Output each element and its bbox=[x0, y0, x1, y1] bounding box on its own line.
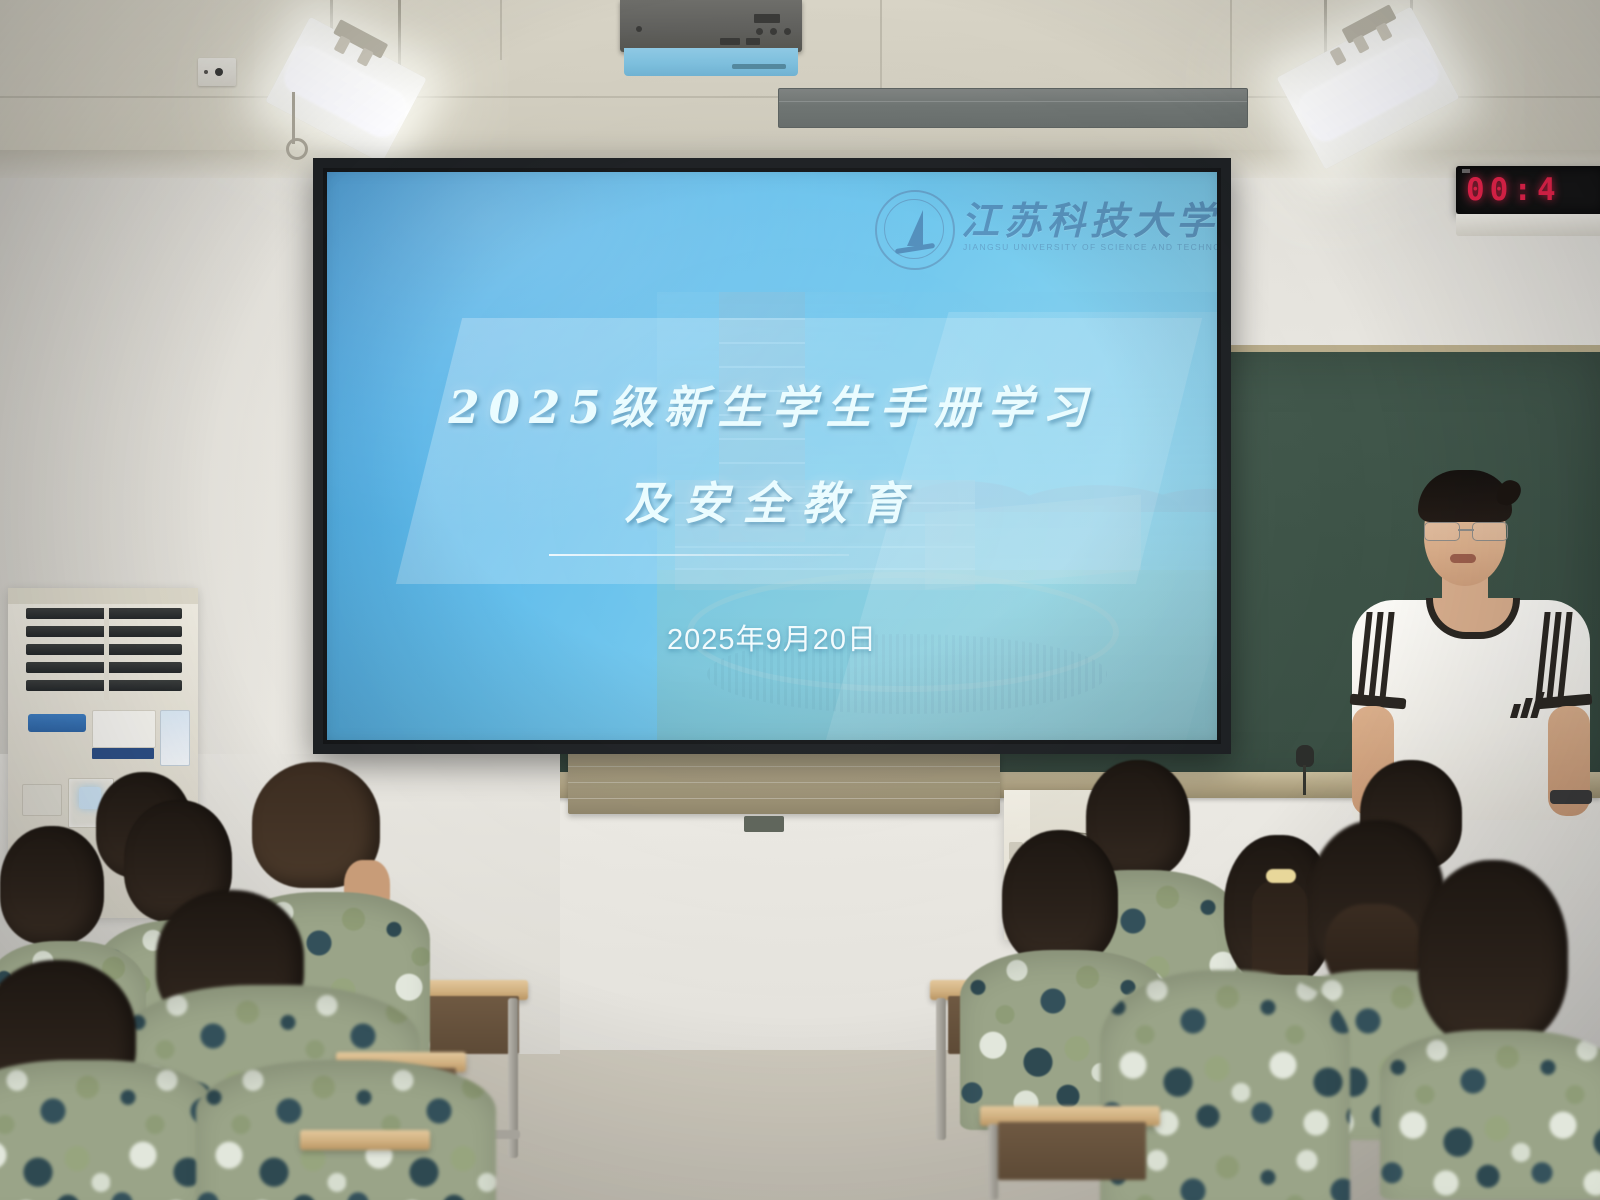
valance-seam bbox=[779, 101, 1247, 102]
campus-building-wing bbox=[925, 495, 1141, 590]
student-head bbox=[0, 826, 104, 944]
wall-hook bbox=[286, 92, 302, 154]
brand-logo-icon bbox=[1510, 692, 1544, 718]
led-wall-clock: 00:4 bbox=[1456, 166, 1600, 214]
university-seal-icon bbox=[875, 190, 955, 270]
wall-sensor-box bbox=[198, 58, 236, 86]
projector-indicator bbox=[636, 26, 642, 32]
ac-label-blue bbox=[92, 748, 154, 759]
university-name-cn: 江苏科技大学 bbox=[961, 190, 1217, 245]
ceiling-seam bbox=[880, 0, 882, 100]
presenter-mouth bbox=[1450, 554, 1476, 563]
student-desk bbox=[980, 1106, 1160, 1200]
ac-louver-divider bbox=[104, 608, 109, 700]
slide-accent-shape bbox=[825, 312, 1217, 740]
slide-vignette bbox=[327, 172, 1217, 740]
ceiling-seam bbox=[1230, 0, 1232, 92]
campus-hills bbox=[907, 442, 1217, 512]
shirt-stripes-left bbox=[1362, 612, 1402, 700]
ac-label-white bbox=[92, 710, 156, 748]
desk-leg bbox=[988, 1124, 998, 1200]
hook-stem bbox=[292, 92, 295, 144]
student-seated bbox=[0, 960, 210, 1200]
projection-screen-housing bbox=[778, 88, 1248, 128]
campus-sports-field bbox=[657, 570, 1217, 740]
ceiling-projector bbox=[620, 0, 802, 78]
case-seam bbox=[568, 798, 1000, 799]
slide-title: 2025级新生学生手册学习 及安全教育 bbox=[327, 360, 1217, 552]
desk-leg bbox=[936, 998, 946, 1140]
campus-photo-background bbox=[657, 292, 1217, 740]
desk-panel bbox=[422, 996, 519, 1054]
desk-panel bbox=[998, 1122, 1146, 1180]
projector-vent bbox=[754, 14, 780, 23]
presenter-hair bbox=[1418, 470, 1512, 522]
projector-lens-panel bbox=[624, 48, 798, 76]
slide-title-line2: 及安全教育 bbox=[327, 456, 1217, 552]
hook-ring bbox=[286, 138, 308, 160]
ac-brand-badge bbox=[28, 714, 86, 732]
ac-top-cover bbox=[8, 588, 198, 604]
classroom-photo: 江苏科技大学 JIANGSU UNIVERSITY OF SCIENCE AND… bbox=[0, 0, 1600, 1200]
presentation-slide: 江苏科技大学 JIANGSU UNIVERSITY OF SCIENCE AND… bbox=[327, 172, 1217, 740]
student-seated bbox=[1380, 860, 1600, 1200]
sailboat-icon bbox=[907, 210, 923, 246]
projector-port bbox=[756, 28, 763, 35]
slide-date: 2025年9月20日 bbox=[327, 616, 1217, 658]
shirt-stripes-right bbox=[1540, 612, 1580, 700]
student-desk bbox=[300, 1130, 430, 1200]
lamp-nub bbox=[1375, 22, 1392, 41]
sensor-lens-icon bbox=[215, 68, 223, 76]
projector-port bbox=[784, 28, 791, 35]
student-uniform bbox=[0, 1060, 210, 1200]
desk-top bbox=[300, 1130, 430, 1150]
projector-body bbox=[620, 0, 802, 52]
ac-louvers bbox=[26, 608, 182, 700]
desk-microphone bbox=[1300, 745, 1310, 791]
ac-side-tag bbox=[22, 784, 62, 816]
campus-running-track bbox=[687, 572, 1119, 692]
campus-tower-building bbox=[719, 292, 805, 542]
lamp-nub bbox=[1352, 34, 1369, 53]
clock-digits: 00:4 bbox=[1466, 172, 1561, 208]
projection-screen: 江苏科技大学 JIANGSU UNIVERSITY OF SCIENCE AND… bbox=[313, 158, 1231, 754]
projector-hotspot bbox=[327, 172, 968, 558]
roller-screen-case bbox=[568, 752, 1000, 814]
campus-main-building bbox=[675, 480, 975, 590]
case-seam bbox=[568, 766, 1000, 767]
wristwatch-icon bbox=[1550, 790, 1592, 804]
lamp-nub bbox=[334, 35, 351, 54]
slide-title-line1: 2025级新生学生手册学习 bbox=[448, 381, 1095, 434]
eyeglasses-icon bbox=[1422, 522, 1510, 540]
slide-title-underline bbox=[549, 554, 849, 556]
university-logo: 江苏科技大学 JIANGSU UNIVERSITY OF SCIENCE AND… bbox=[875, 186, 1197, 272]
student-uniform bbox=[1380, 1030, 1600, 1200]
case-seam bbox=[568, 782, 1000, 783]
projector-port bbox=[720, 38, 740, 45]
projector-slit bbox=[732, 64, 786, 69]
projector-port bbox=[746, 38, 760, 45]
sensor-led-icon bbox=[204, 70, 208, 74]
lamp-nub bbox=[357, 48, 374, 67]
sailboat-hull-icon bbox=[895, 243, 935, 254]
ac-energy-label bbox=[160, 710, 190, 766]
microphone-stem bbox=[1303, 765, 1306, 795]
student-head bbox=[1418, 860, 1568, 1046]
screen-control-button[interactable] bbox=[744, 816, 784, 832]
campus-crowd-formation bbox=[707, 634, 1107, 714]
ceiling-seam bbox=[500, 0, 502, 60]
projector-port bbox=[770, 28, 777, 35]
clock-base bbox=[1456, 214, 1600, 236]
lamp-nub bbox=[1330, 47, 1347, 66]
student-head bbox=[1002, 830, 1118, 966]
slide-title-band bbox=[396, 318, 1202, 584]
microphone-head-icon bbox=[1296, 745, 1314, 767]
university-name-en: JIANGSU UNIVERSITY OF SCIENCE AND TECHNO… bbox=[963, 242, 1217, 252]
